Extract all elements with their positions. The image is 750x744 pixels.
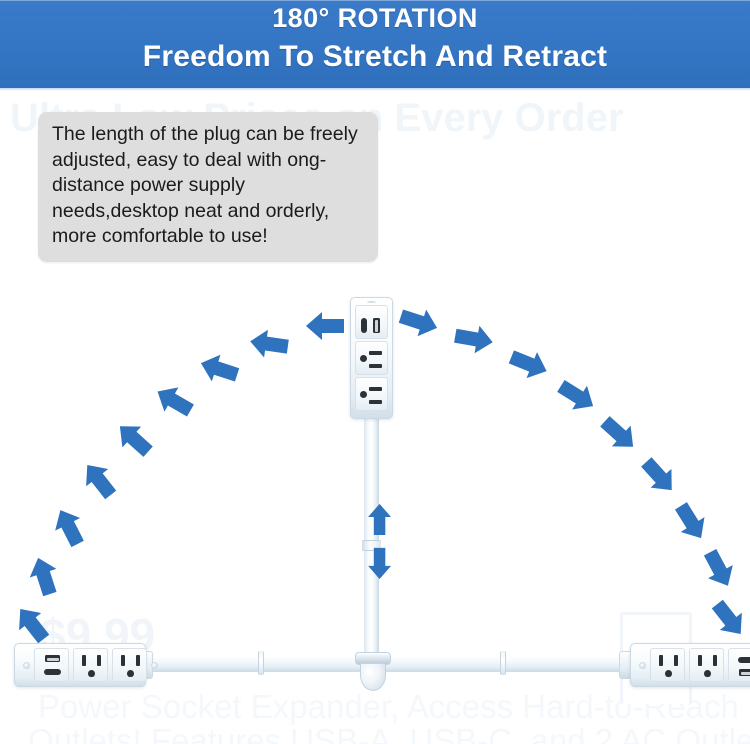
left-outlet-strip	[14, 643, 146, 687]
ac-slot-icon	[82, 655, 86, 666]
extend-arrow-retract-down	[368, 548, 391, 579]
ac-outlet-1	[355, 341, 388, 375]
rotation-arrow-right-3	[506, 344, 552, 384]
ac-ground-icon	[88, 670, 95, 677]
usb-a-port-icon	[739, 669, 750, 676]
rotation-arrow-right-7	[669, 498, 713, 545]
product-infographic: Ultra Low Prices on Every Order $9.99 Po…	[0, 0, 750, 744]
ac-slot-icon	[97, 655, 101, 666]
ac-ground-icon	[665, 670, 672, 677]
rotation-arrow-right-6	[636, 453, 682, 500]
ac-ground-icon	[360, 355, 367, 362]
header-title: 180° ROTATION	[0, 2, 750, 35]
ac-slot-icon	[369, 351, 382, 355]
rotation-arrow-right-8	[698, 546, 741, 593]
rotation-arrow-right-4	[553, 374, 600, 418]
rotation-arrow-left-4	[151, 379, 198, 422]
ac-outlet-1	[73, 648, 108, 682]
strip-screw-icon	[367, 301, 376, 303]
right-outlet-strip	[630, 643, 750, 687]
ac-ground-icon	[360, 391, 367, 398]
rotation-arrow-left-7	[48, 504, 90, 551]
ac-slot-icon	[121, 655, 125, 666]
rotation-pivot-hub	[355, 652, 391, 692]
arm-joint-right	[500, 651, 506, 675]
ac-slot-icon	[369, 364, 382, 368]
ac-ground-icon	[127, 670, 134, 677]
ac-slot-icon	[369, 387, 382, 391]
usb-a-port-icon	[373, 318, 380, 333]
rotation-arrow-left-1	[306, 312, 344, 340]
strip-screw-icon	[639, 662, 646, 669]
hub-knob	[360, 663, 386, 691]
rotation-arrow-left-3	[197, 350, 242, 388]
description-callout: The length of the plug can be freely adj…	[38, 112, 378, 262]
ac-outlet-2	[355, 377, 388, 411]
rotation-arrow-left-2	[248, 327, 290, 360]
vertical-outlet-strip	[350, 297, 393, 419]
callout-tail	[330, 236, 352, 254]
ac-slot-icon	[713, 655, 717, 666]
usb-panel	[34, 648, 69, 682]
rotation-arrow-right-2	[453, 322, 495, 356]
usb-c-port-icon	[738, 657, 750, 663]
usb-c-port-icon	[361, 318, 367, 333]
rotation-arrow-left-8	[25, 554, 63, 599]
rotation-arrow-right-9	[706, 595, 750, 642]
ac-outlet-1	[650, 648, 685, 682]
rotation-arrow-right-5	[596, 411, 643, 457]
ac-ground-icon	[704, 670, 711, 677]
header-subtitle: Freedom To Stretch And Retract	[0, 38, 750, 76]
callout-text: The length of the plug can be freely adj…	[52, 122, 364, 250]
usb-a-port-icon	[45, 655, 60, 662]
usb-panel	[355, 305, 388, 339]
ac-outlet-2	[689, 648, 724, 682]
header-banner: 180° ROTATION Freedom To Stretch And Ret…	[0, 0, 750, 88]
rotation-arrow-left-6	[76, 456, 121, 503]
strip-screw-icon	[367, 413, 376, 415]
ac-slot-icon	[136, 655, 140, 666]
ac-outlet-2	[112, 648, 147, 682]
strip-screw-icon	[151, 662, 158, 669]
usb-panel	[728, 648, 750, 682]
arm-joint-left	[258, 651, 264, 675]
rotation-arrow-left-5	[111, 416, 158, 462]
watermark-description-line2: Outlets! Features USB-A, USB-C, and 2 AC…	[28, 722, 750, 744]
rotation-arrow-right-1	[397, 303, 442, 341]
ac-slot-icon	[659, 655, 663, 666]
strip-screw-icon	[23, 662, 30, 669]
usb-c-port-icon	[44, 669, 61, 675]
ac-slot-icon	[369, 400, 382, 404]
rotation-arrow-left-9	[9, 600, 54, 647]
ac-slot-icon	[698, 655, 702, 666]
ac-slot-icon	[674, 655, 678, 666]
extend-arrow-extend-up	[368, 504, 391, 535]
